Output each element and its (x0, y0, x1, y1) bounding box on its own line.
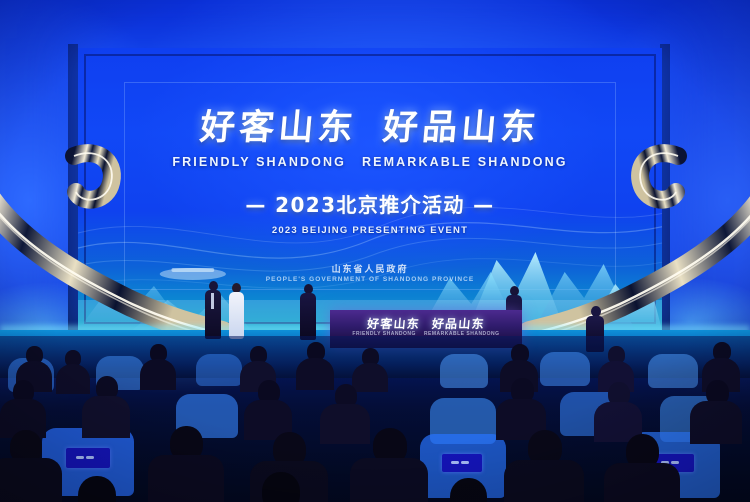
stage-pillar-left (68, 44, 78, 334)
subtitle-chinese: — 2023北京推介活动 — (78, 189, 662, 218)
podium-sign-cn-right: 好品山东 (431, 317, 485, 331)
chair-cover (440, 354, 488, 388)
headline-chinese: 好客山东好品山东 (78, 110, 662, 145)
podium-sign-cn-left: 好客山东 (367, 317, 421, 331)
audience-member (82, 376, 130, 438)
headline-en-left: FRIENDLY SHANDONG (172, 155, 346, 169)
audience-member (140, 344, 176, 390)
audience-area (0, 336, 750, 502)
audience-member (690, 380, 742, 444)
audience-member (244, 380, 292, 440)
audience-member (594, 382, 642, 442)
chair-placard (66, 448, 110, 468)
audience-member (148, 426, 224, 502)
headline-cn-left: 好客山东 (198, 107, 358, 148)
audience-member (48, 476, 144, 502)
chair-cover (540, 352, 590, 386)
podium-sign-chinese: 好客山东好品山东 (330, 315, 522, 332)
host-female (228, 283, 245, 339)
headline-en-right: REMARKABLE SHANDONG (362, 155, 568, 169)
headline-cn-right: 好品山东 (381, 107, 541, 148)
led-headline-block: 好客山东好品山东 FRIENDLY SHANDONGREMARKABLE SHA… (78, 110, 662, 236)
subtitle-english: 2023 BEIJING PRESENTING EVENT (78, 225, 662, 236)
conference-stage-photo: 好客山东好品山东 FRIENDLY SHANDONGREMARKABLE SHA… (0, 0, 750, 502)
organizer-chinese: 山东省人民政府 (78, 262, 662, 275)
chair-placard (442, 454, 482, 472)
led-video-wall: 好客山东好品山东 FRIENDLY SHANDONGREMARKABLE SHA… (78, 48, 662, 330)
headline-english: FRIENDLY SHANDONGREMARKABLE SHANDONG (78, 155, 662, 169)
host-male (204, 281, 222, 339)
audience-member (350, 428, 428, 502)
audience-member (230, 472, 330, 502)
audience-member (420, 478, 516, 502)
organizer-english: PEOPLE'S GOVERNMENT OF SHANDONG PROVINCE (78, 276, 662, 283)
audience-member (604, 434, 680, 502)
chair-cover (196, 354, 242, 386)
speaker-at-lectern (299, 284, 317, 340)
audience-member (504, 430, 584, 502)
audience-member (296, 342, 334, 390)
